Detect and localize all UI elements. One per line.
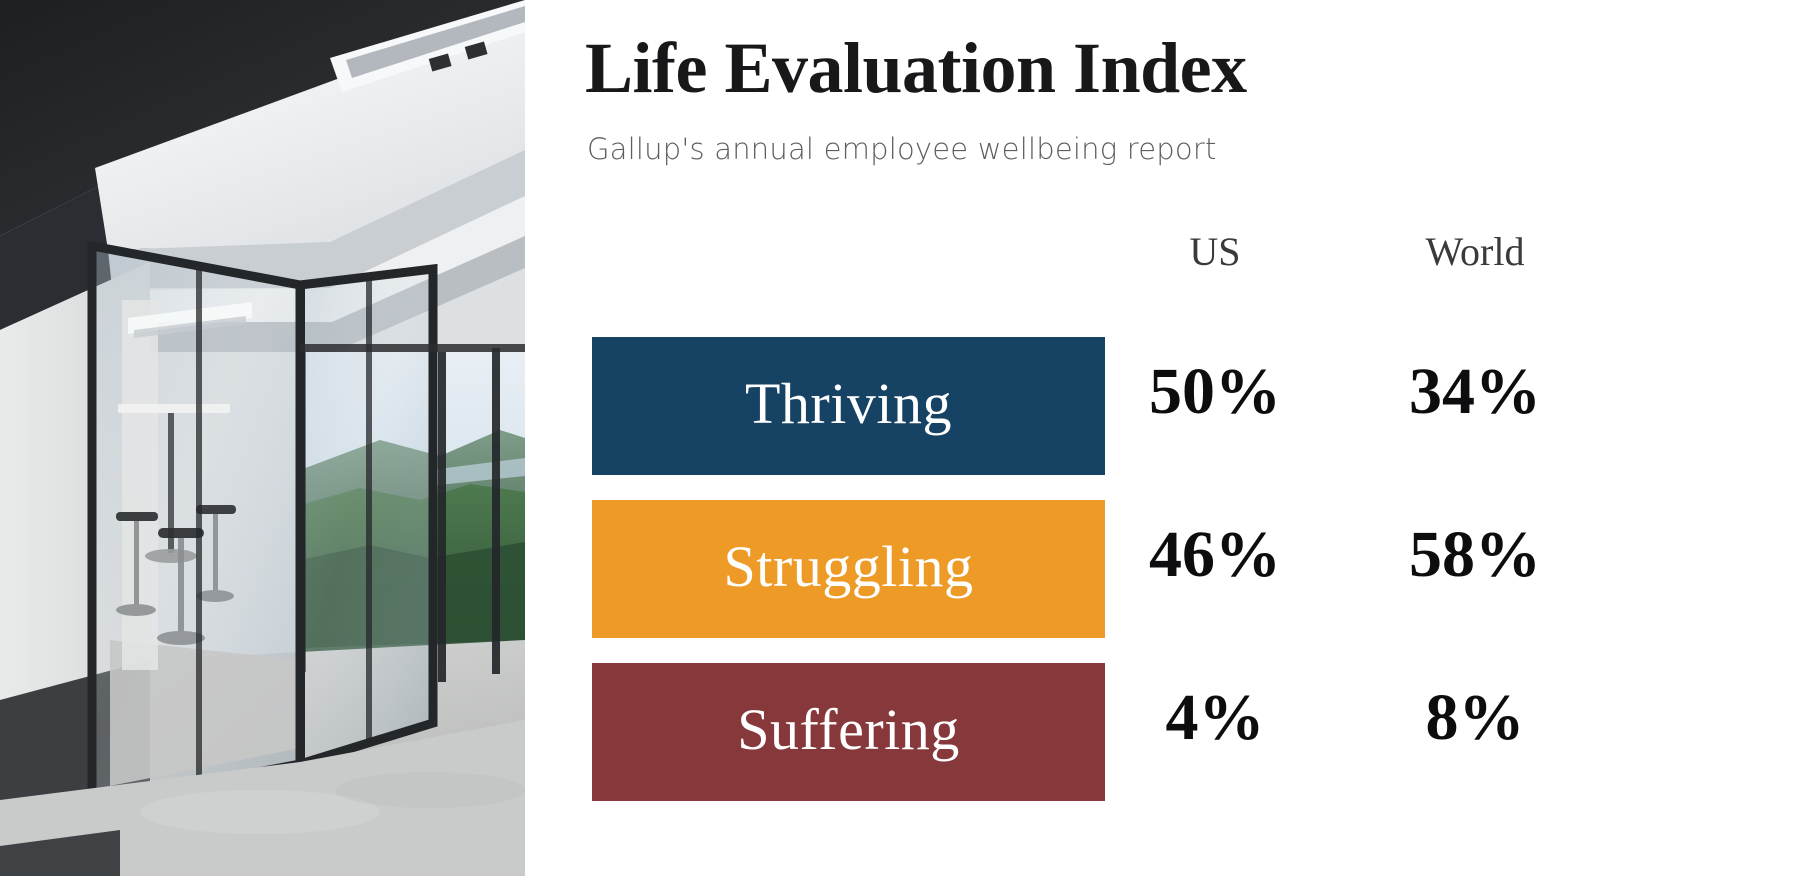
- office-photo-illustration: [0, 0, 525, 876]
- category-bar-struggling: Struggling: [592, 500, 1105, 638]
- content-panel: Life Evaluation Index Gallup's annual em…: [525, 0, 1800, 876]
- value-struggling-us: 46%: [1115, 522, 1315, 588]
- table-row: Thriving 50% 34%: [525, 337, 1800, 475]
- value-suffering-world: 8%: [1360, 685, 1590, 751]
- infographic-root: Life Evaluation Index Gallup's annual em…: [0, 0, 1800, 876]
- page-subtitle: Gallup's annual employee wellbeing repor…: [587, 132, 1217, 166]
- table-row: Suffering 4% 8%: [525, 663, 1800, 801]
- category-bar-suffering: Suffering: [592, 663, 1105, 801]
- column-header-us: US: [1115, 228, 1315, 275]
- page-title: Life Evaluation Index: [585, 32, 1247, 104]
- category-bar-thriving: Thriving: [592, 337, 1105, 475]
- value-struggling-world: 58%: [1360, 522, 1590, 588]
- category-label-thriving: Thriving: [745, 375, 952, 433]
- category-label-suffering: Suffering: [737, 701, 960, 759]
- table-row: Struggling 46% 58%: [525, 500, 1800, 638]
- category-label-struggling: Struggling: [724, 538, 974, 596]
- value-suffering-us: 4%: [1115, 685, 1315, 751]
- column-header-world: World: [1360, 228, 1590, 275]
- value-thriving-us: 50%: [1115, 359, 1315, 425]
- office-photo: [0, 0, 525, 876]
- value-thriving-world: 34%: [1360, 359, 1590, 425]
